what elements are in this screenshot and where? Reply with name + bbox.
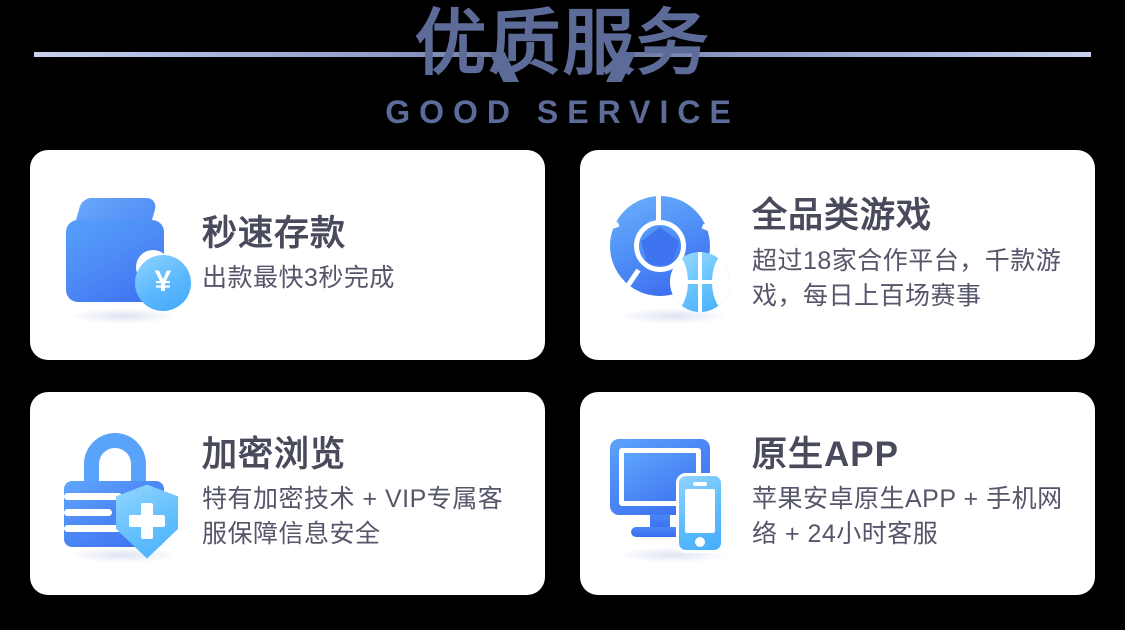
wallet-yen-icon: ¥	[58, 190, 188, 320]
lock-stripe	[64, 525, 122, 532]
phone-home-button	[695, 537, 705, 547]
feature-card-text: 全品类游戏 超过18家合作平台，千款游戏，每日上百场赛事	[752, 196, 1069, 313]
page-title: 优质服务	[0, 8, 1125, 80]
basketball-seam	[670, 252, 688, 312]
balls-graphic	[610, 196, 734, 316]
feature-card-title: 全品类游戏	[752, 196, 1069, 235]
page-subtitle: GOOD SERVICE	[0, 96, 1125, 128]
promo-banner: 优质服务 GOOD SERVICE ¥ 秒速存款 出款最快3秒完成	[0, 0, 1125, 630]
lock-stripe	[64, 509, 112, 516]
feature-card-text: 加密浏览 特有加密技术 + VIP专属客服保障信息安全	[202, 435, 519, 552]
feature-card-title: 加密浏览	[202, 435, 519, 474]
soccer-seam	[621, 269, 641, 295]
basketball-seam	[712, 252, 730, 312]
feature-card-deposit[interactable]: ¥ 秒速存款 出款最快3秒完成	[30, 150, 545, 360]
feature-card-description: 特有加密技术 + VIP专属客服保障信息安全	[202, 482, 519, 552]
lock-stripe	[64, 493, 122, 500]
feature-card-description: 出款最快3秒完成	[202, 261, 519, 296]
lock-shield-icon	[58, 429, 188, 559]
feature-card-title: 秒速存款	[202, 214, 519, 253]
phone-screen-shape	[685, 489, 715, 533]
feature-card-native-app[interactable]: 原生APP 苹果安卓原生APP + 手机网络 + 24小时客服	[580, 392, 1095, 595]
banner-header: 优质服务 GOOD SERVICE	[0, 0, 1125, 140]
soccer-seam	[610, 222, 619, 236]
plus-icon	[129, 515, 165, 527]
feature-card-grid: ¥ 秒速存款 出款最快3秒完成	[30, 150, 1095, 595]
monitor-phone-icon	[608, 429, 738, 559]
feature-card-games[interactable]: 全品类游戏 超过18家合作平台，千款游戏，每日上百场赛事	[580, 150, 1095, 360]
feature-card-text: 秒速存款 出款最快3秒完成	[202, 214, 519, 296]
feature-card-text: 原生APP 苹果安卓原生APP + 手机网络 + 24小时客服	[752, 435, 1069, 552]
soccer-seam	[702, 224, 710, 238]
phone-speaker-shape	[693, 482, 707, 486]
basketball-icon	[670, 252, 730, 312]
soccer-basketball-icon	[608, 190, 738, 320]
lock-graphic	[62, 433, 182, 555]
phone-icon	[676, 473, 724, 553]
yen-coin-icon: ¥	[135, 255, 191, 311]
feature-card-description: 苹果安卓原生APP + 手机网络 + 24小时客服	[752, 482, 1069, 552]
devices-graphic	[610, 439, 734, 551]
wallet-graphic: ¥	[62, 198, 182, 316]
feature-card-description: 超过18家合作平台，千款游戏，每日上百场赛事	[752, 244, 1069, 314]
feature-card-encryption[interactable]: 加密浏览 特有加密技术 + VIP专属客服保障信息安全	[30, 392, 545, 595]
feature-card-title: 原生APP	[752, 435, 1069, 474]
soccer-seam	[656, 196, 661, 222]
